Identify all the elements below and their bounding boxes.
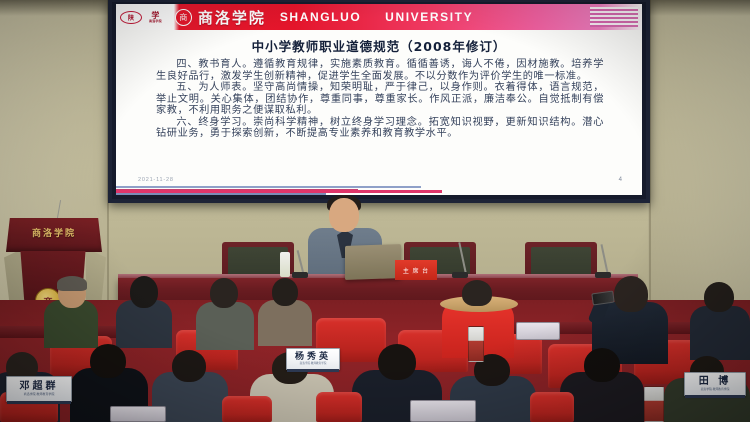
front-seat-2 — [222, 396, 272, 422]
projection-screen: 陕 学 商洛学院 商 商洛学院 SHANGLUO UNIVERSITY 中小学教… — [108, 0, 650, 203]
table-card: 主 席 台 — [395, 260, 437, 280]
slide-body: 中小学教师职业道德规范（2008年修订） 四、教书育人。遵循教育规律，实施素质教… — [116, 30, 642, 195]
thermos-bottle-1 — [468, 326, 484, 362]
microphone-base-1 — [292, 272, 308, 278]
microphone-base-3 — [595, 272, 611, 278]
slide-banner: 陕 学 商洛学院 商 商洛学院 SHANGLUO UNIVERSITY — [116, 4, 642, 30]
banner-en-word-1: SHANGLUO — [280, 10, 361, 24]
speaker-laptop — [345, 244, 401, 280]
lecture-hall-photo: 陕 学 商洛学院 商 商洛学院 SHANGLUO UNIVERSITY 中小学教… — [0, 0, 750, 422]
university-seal-icon: 陕 — [120, 11, 142, 24]
speaker-head — [329, 198, 359, 232]
banner-emblem-icon: 商 — [175, 9, 192, 26]
university-badge-icon: 学 商洛学院 — [149, 12, 162, 23]
microphone-base-2 — [452, 272, 468, 278]
nameplate-3: 田 博 商洛学院 教师教育学院 — [684, 372, 746, 396]
slide-date: 2021-11-28 — [138, 177, 174, 183]
slide-text-block: 四、教书育人。遵循教育规律，实施素质教育。循循善诱，诲人不倦，因材施教。培养学生… — [130, 59, 628, 140]
banner-stripe-decoration — [590, 7, 638, 27]
slide-paragraph-6: 六、终身学习。崇尚科学精神，树立终身学习理念。拓宽知识视野，更新知识结构。潜心钻… — [156, 117, 604, 140]
thermos-bottle-2 — [644, 386, 664, 422]
nameplate-3-sub: 商洛学院 教师教育学院 — [701, 388, 730, 391]
audience-laptop-2 — [410, 400, 476, 422]
slide-surface: 陕 学 商洛学院 商 商洛学院 SHANGLUO UNIVERSITY 中小学教… — [116, 4, 642, 195]
nameplate-1: 邓超群 商洛学院 教师教育学院 — [6, 376, 72, 402]
nameplate-1-name: 邓超群 — [20, 382, 59, 392]
wall-panel-right — [648, 0, 750, 300]
audience-laptop-1 — [516, 322, 560, 340]
nameplate-3-name: 田 博 — [699, 377, 731, 387]
speaker-cup — [280, 252, 290, 277]
front-seat-3 — [316, 392, 362, 422]
slide-page-number: 4 — [619, 177, 622, 183]
nameplate-1-sub: 商洛学院 教师教育学院 — [24, 393, 55, 396]
stage-chair-3 — [525, 242, 597, 278]
nameplate-2: 杨秀英 商洛学院 教师教育学院 — [286, 348, 340, 370]
slide-title: 中小学教师职业道德规范（2008年修订） — [130, 36, 628, 55]
slide-paragraph-4: 四、教书育人。遵循教育规律，实施素质教育。循循善诱，诲人不倦，因材施教。培养学生… — [156, 59, 604, 82]
badge-subtext: 商洛学院 — [149, 20, 162, 23]
banner-en-word-2: UNIVERSITY — [385, 10, 473, 24]
front-seat-4 — [530, 392, 574, 422]
nameplate-2-name: 杨秀英 — [295, 353, 331, 362]
lectern-label: 商洛学院 — [16, 226, 92, 239]
slide-footer-decoration — [116, 186, 642, 195]
banner-cn-name: 商洛学院 — [198, 7, 266, 28]
nameplate-2-sub: 商洛学院 教师教育学院 — [300, 363, 327, 366]
banner-en-name: SHANGLUO UNIVERSITY — [280, 10, 473, 24]
slide-paragraph-5: 五、为人师表。坚守高尚情操，知荣明耻，严于律己，以身作则。衣着得体，语言规范，举… — [156, 82, 604, 117]
audience-laptop-3 — [110, 406, 166, 422]
